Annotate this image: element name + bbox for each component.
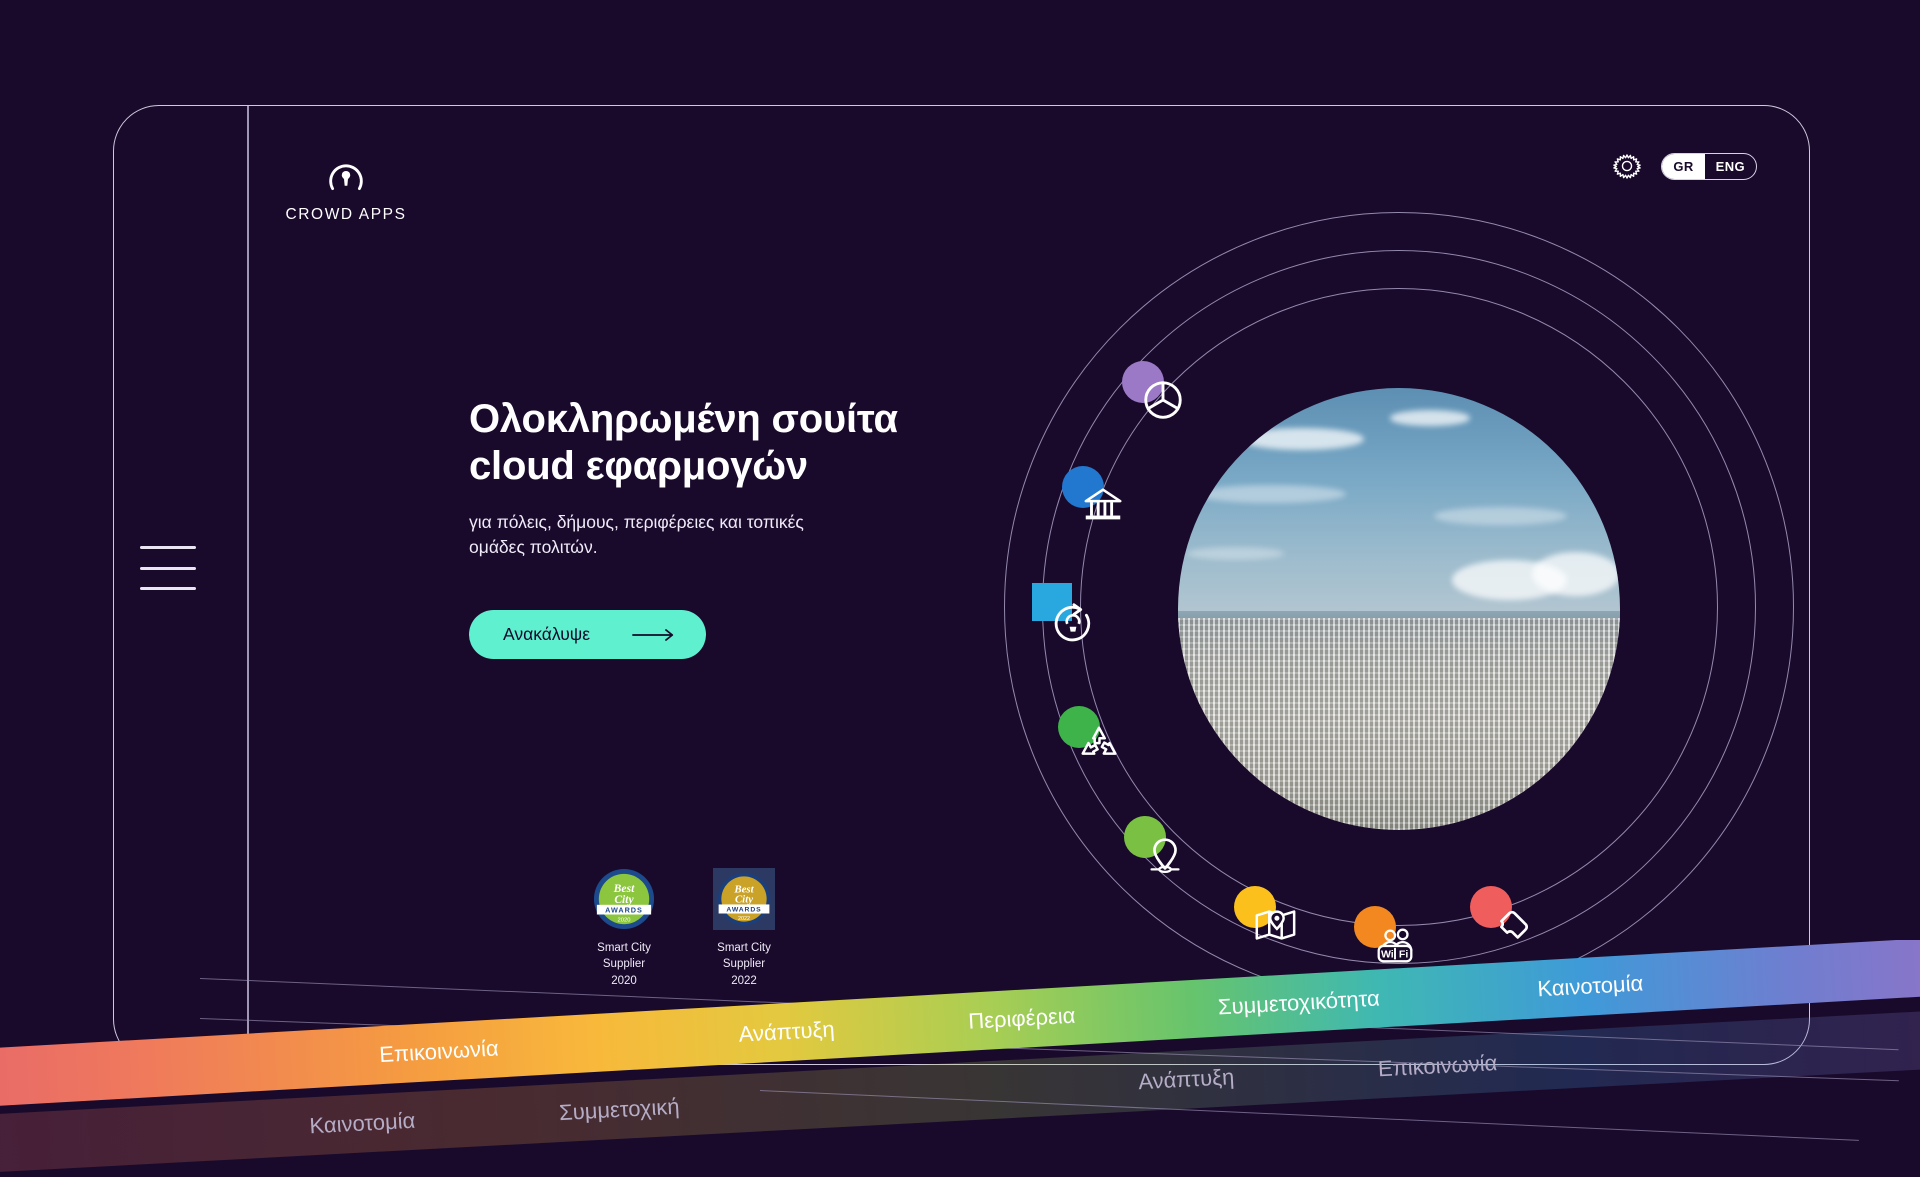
svg-text:2022: 2022 bbox=[738, 916, 750, 922]
award-item: Best City AWARDS 2022 Smart City Supplie… bbox=[700, 868, 788, 989]
puzzle-piece-icon bbox=[1488, 902, 1534, 948]
keyhole-circle-icon bbox=[323, 156, 369, 202]
app-frame: CROWD APPS GR ENG Ολοκληρωμένη σουίτα cl… bbox=[113, 105, 1810, 1065]
best-city-awards-badge-2020: Best City AWARDS 2020 bbox=[593, 868, 655, 930]
award-caption-line-1: Smart City bbox=[700, 940, 788, 956]
headline-line-2: cloud εφαρμογών bbox=[469, 444, 808, 488]
orbit-node-pie-chart[interactable] bbox=[1122, 361, 1192, 431]
best-city-awards-badge-2022: Best City AWARDS 2022 bbox=[713, 868, 775, 930]
award-caption-line-3: 2022 bbox=[700, 973, 788, 989]
map-fold-icon bbox=[1252, 902, 1298, 948]
orbit-node-map[interactable] bbox=[1234, 886, 1304, 956]
aerial-city-photo bbox=[1178, 388, 1620, 830]
orbit-visual: Wi Fi bbox=[994, 126, 1804, 936]
orbit-node-location[interactable] bbox=[1124, 816, 1194, 886]
hamburger-line-3 bbox=[140, 587, 196, 590]
svg-text:City: City bbox=[614, 893, 634, 906]
orbit-node-puzzle[interactable] bbox=[1470, 886, 1540, 956]
award-caption-line-1: Smart City bbox=[580, 940, 668, 956]
wifi-community-icon: Wi Fi bbox=[1372, 922, 1418, 968]
hero-subtitle: για πόλεις, δήμους, περιφέρειες και τοπι… bbox=[469, 510, 859, 561]
award-caption: Smart City Supplier 2020 bbox=[580, 940, 668, 989]
svg-text:AWARDS: AWARDS bbox=[726, 907, 761, 914]
svg-text:Wi: Wi bbox=[1381, 948, 1394, 960]
arrow-right-icon bbox=[632, 628, 676, 642]
ribbon-word: Καινοτομία bbox=[309, 1108, 416, 1140]
award-caption-line-3: 2020 bbox=[580, 973, 668, 989]
awards-list: Best City AWARDS 2020 Smart City Supplie… bbox=[580, 868, 788, 989]
discover-button-label: Ανακάλυψε bbox=[503, 624, 590, 645]
award-caption-line-2: Supplier bbox=[700, 956, 788, 972]
orbit-node-government[interactable] bbox=[1062, 466, 1132, 536]
svg-text:AWARDS: AWARDS bbox=[605, 906, 643, 915]
hamburger-menu-icon[interactable] bbox=[140, 546, 196, 590]
lightbulb-refresh-icon bbox=[1050, 599, 1096, 645]
cloud bbox=[1390, 410, 1470, 425]
headline-line-1: Ολοκληρωμένη σουίτα bbox=[469, 397, 898, 441]
cloud bbox=[1196, 485, 1346, 503]
brand-logo[interactable]: CROWD APPS bbox=[266, 156, 426, 224]
page-title: Ολοκληρωμένη σουίτα cloud εφαρμογών bbox=[469, 396, 939, 490]
svg-text:City: City bbox=[735, 894, 753, 906]
award-caption: Smart City Supplier 2022 bbox=[700, 940, 788, 989]
hamburger-line-1 bbox=[140, 546, 196, 549]
cloud bbox=[1434, 507, 1567, 525]
cloud bbox=[1240, 428, 1364, 450]
hamburger-line-2 bbox=[140, 567, 196, 570]
page-root: CROWD APPS GR ENG Ολοκληρωμένη σουίτα cl… bbox=[0, 0, 1920, 1177]
hero-section: Ολοκληρωμένη σουίτα cloud εφαρμογών για … bbox=[469, 396, 939, 659]
bank-building-icon bbox=[1080, 482, 1126, 528]
recycle-icon bbox=[1076, 722, 1122, 768]
decor-line bbox=[760, 1090, 1859, 1141]
svg-text:2020: 2020 bbox=[618, 917, 631, 923]
location-pin-icon bbox=[1142, 832, 1188, 878]
ribbon-word: Ανάπτυξη bbox=[1138, 1064, 1235, 1095]
award-item: Best City AWARDS 2020 Smart City Supplie… bbox=[580, 868, 668, 989]
orbit-node-recycling[interactable] bbox=[1058, 706, 1128, 776]
discover-button[interactable]: Ανακάλυψε bbox=[469, 610, 706, 659]
sidebar-divider bbox=[247, 106, 249, 1065]
ribbon-word: Συμμετοχική bbox=[558, 1094, 680, 1126]
brand-name: CROWD APPS bbox=[266, 206, 426, 224]
award-caption-line-2: Supplier bbox=[580, 956, 668, 972]
pie-chart-icon bbox=[1140, 377, 1186, 423]
photo-cityscape bbox=[1178, 618, 1620, 830]
orbit-node-innovation[interactable] bbox=[1032, 583, 1102, 653]
cloud bbox=[1532, 552, 1620, 596]
svg-text:Fi: Fi bbox=[1399, 948, 1408, 960]
orbit-node-wifi-community[interactable]: Wi Fi bbox=[1354, 906, 1424, 976]
